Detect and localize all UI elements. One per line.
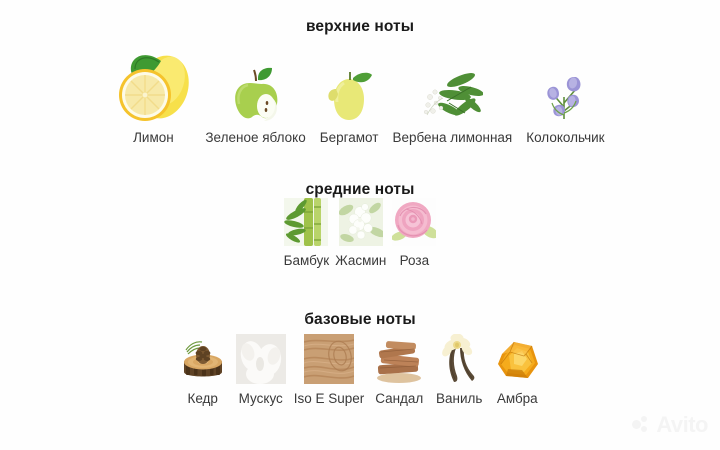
note-item-musk[interactable]: Мускус [236, 334, 286, 407]
musk-image [236, 334, 286, 389]
note-item-bamboo[interactable]: Бамбук [284, 198, 330, 269]
bellflower-image [538, 67, 592, 128]
note-label: Вербена лимонная [392, 131, 512, 146]
note-label: Жасмин [335, 254, 386, 269]
note-label: Сандал [375, 392, 423, 407]
note-item-bellflower[interactable]: Колокольчик [526, 67, 604, 146]
note-label: Мускус [239, 392, 283, 407]
note-label: Зеленое яблоко [205, 131, 305, 146]
note-label: Роза [400, 254, 429, 269]
items-row-middle-notes: Бамбук [0, 213, 720, 269]
note-item-green-apple[interactable]: Зеленое яблоко [205, 65, 305, 146]
iso-e-super-image [304, 334, 354, 389]
avito-dots-icon [632, 415, 652, 435]
avito-watermark: Avito [632, 414, 708, 436]
green-apple-image [228, 65, 284, 128]
note-label: Бамбук [284, 254, 330, 269]
section-top-notes: верхние ноты [0, 18, 720, 146]
section-heading-middle-notes: средние ноты [0, 181, 720, 199]
lemon-image [115, 45, 191, 128]
avito-watermark-text: Avito [656, 414, 708, 436]
bamboo-image [284, 198, 328, 251]
bergamot-image [322, 67, 376, 128]
sandalwood-image [372, 334, 426, 389]
note-label: Лимон [133, 131, 174, 146]
cedar-image [178, 334, 228, 389]
note-item-rose[interactable]: Роза [392, 198, 436, 269]
note-item-amber[interactable]: Амбра [492, 334, 542, 407]
jasmine-image [339, 198, 383, 251]
note-item-lemon[interactable]: Лимон [115, 45, 191, 146]
fragrance-notes-panel: верхние ноты [0, 0, 720, 450]
items-row-base-notes: Кедр [0, 341, 720, 407]
note-label: Амбра [497, 392, 538, 407]
section-heading-top-notes: верхние ноты [0, 18, 720, 36]
rose-image [392, 198, 436, 251]
note-label: Кедр [187, 392, 217, 407]
note-item-lemon-verbena[interactable]: Вербена лимонная [392, 67, 512, 146]
note-label: Ваниль [436, 392, 482, 407]
note-item-vanilla[interactable]: Ваниль [434, 334, 484, 407]
note-item-bergamot[interactable]: Бергамот [320, 67, 379, 146]
note-label: Колокольчик [526, 131, 604, 146]
section-heading-base-notes: базовые ноты [0, 311, 720, 329]
items-row-top-notes: Лимон Зеленое яблоко [0, 54, 720, 146]
note-label: Iso E Super [294, 392, 365, 407]
amber-image [492, 334, 542, 389]
section-middle-notes: средние ноты [0, 181, 720, 269]
note-item-cedar[interactable]: Кедр [178, 334, 228, 407]
lemon-verbena-image [421, 67, 483, 128]
note-label: Бергамот [320, 131, 379, 146]
note-item-iso-e-super[interactable]: Iso E Super [294, 334, 365, 407]
section-base-notes: базовые ноты [0, 311, 720, 407]
note-item-sandalwood[interactable]: Сандал [372, 334, 426, 407]
note-item-jasmine[interactable]: Жасмин [335, 198, 386, 269]
vanilla-image [434, 334, 484, 389]
